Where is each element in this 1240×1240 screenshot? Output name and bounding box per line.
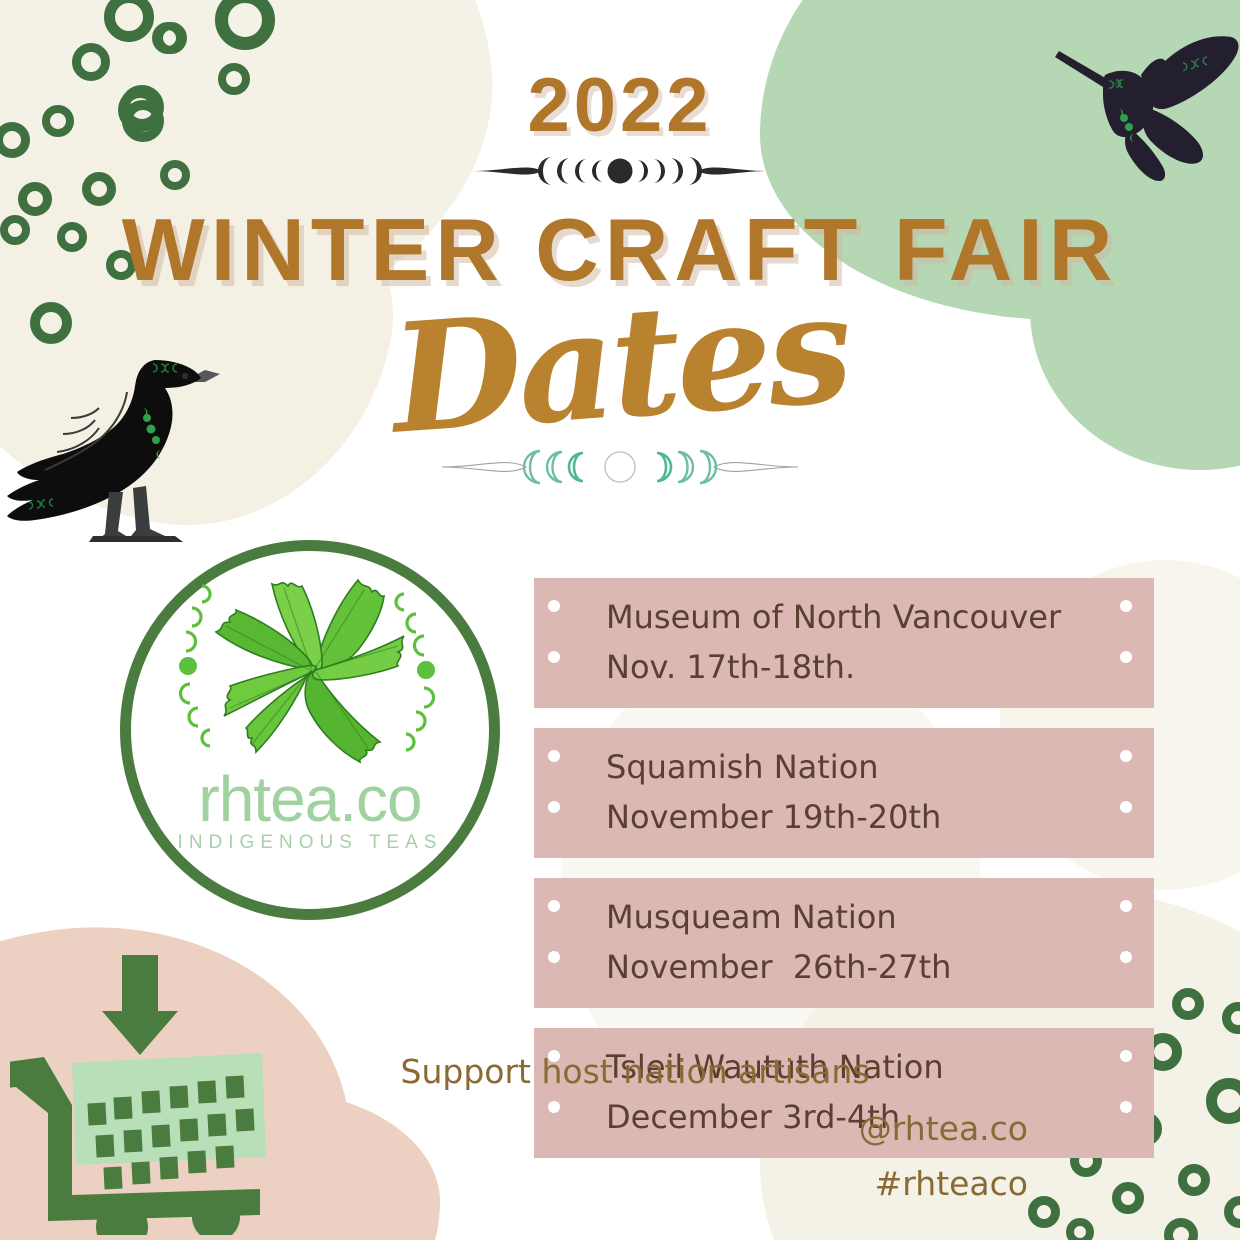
- event-venue: Museum of North Vancouver: [534, 592, 1154, 642]
- event-bar[interactable]: Musqueam Nation November 26th-27th: [534, 878, 1154, 1008]
- bullet-dot: [1120, 651, 1132, 663]
- poster-canvas: 2022 WINTER CRAFT FAIR Dates: [0, 0, 1240, 1240]
- support-text: Support host nation artisans: [0, 1052, 1240, 1091]
- ring-dot: [1222, 1002, 1240, 1034]
- bullet-dot: [548, 750, 560, 762]
- rhtea-logo: rhtea.co INDIGENOUS TEAS: [120, 540, 500, 920]
- ring-dot: [1172, 988, 1204, 1020]
- down-arrow-icon: [102, 955, 178, 1055]
- instagram-handle[interactable]: @rhtea.co: [0, 1109, 1240, 1148]
- bullet-dot: [548, 801, 560, 813]
- nettle-leaves-illustration: [172, 566, 450, 776]
- bullet-dot: [548, 951, 560, 963]
- event-dates: November 26th-27th: [534, 942, 1154, 992]
- event-bar[interactable]: Squamish Nation November 19th-20th: [534, 728, 1154, 858]
- logo-wordmark: rhtea.co: [120, 762, 500, 836]
- event-venue: Musqueam Nation: [534, 892, 1154, 942]
- bullet-dot: [1120, 900, 1132, 912]
- bullet-dot: [1120, 600, 1132, 612]
- event-dates: Nov. 17th-18th.: [534, 642, 1154, 692]
- bullet-dot: [548, 651, 560, 663]
- year-heading: 2022: [0, 62, 1240, 149]
- bullet-dot: [1120, 951, 1132, 963]
- hashtag[interactable]: #rhteaco: [0, 1164, 1240, 1203]
- ring-dot: [1066, 1218, 1094, 1240]
- bullet-dot: [1120, 801, 1132, 813]
- headline-block: 2022 WINTER CRAFT FAIR Dates: [0, 0, 1240, 493]
- event-dates: November 19th-20th: [534, 792, 1154, 842]
- moon-phase-divider-dark: [0, 151, 1240, 195]
- bullet-dot: [548, 900, 560, 912]
- footer-block: Support host nation artisans @rhtea.co #…: [0, 1052, 1240, 1203]
- bullet-dot: [1120, 750, 1132, 762]
- bullet-dot: [548, 600, 560, 612]
- logo-tagline: INDIGENOUS TEAS: [120, 832, 500, 854]
- event-bar[interactable]: Museum of North Vancouver Nov. 17th-18th…: [534, 578, 1154, 708]
- event-venue: Squamish Nation: [534, 742, 1154, 792]
- ring-dot: [1164, 1218, 1198, 1240]
